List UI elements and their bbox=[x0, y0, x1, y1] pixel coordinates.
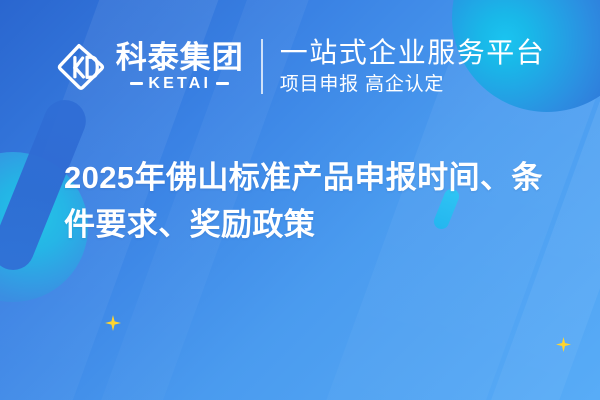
banner-header: 科泰集团 KETAI 一站式企业服务平台 项目申报 高企认定 bbox=[0, 36, 600, 98]
brand-name-cn: 科泰集团 bbox=[116, 42, 244, 74]
tagline-block: 一站式企业服务平台 项目申报 高企认定 bbox=[280, 36, 546, 98]
brand-name-en: KETAI bbox=[148, 76, 211, 92]
dash-left bbox=[130, 82, 143, 85]
page-title: 2025年佛山标准产品申报时间、条件要求、奖励政策 bbox=[64, 154, 552, 248]
vertical-divider bbox=[261, 39, 263, 94]
tagline-main: 一站式企业服务平台 bbox=[280, 36, 546, 69]
brand-logo[interactable]: 科泰集团 KETAI bbox=[55, 41, 244, 93]
brand-name-en-row: KETAI bbox=[130, 76, 229, 92]
sparkle-icon bbox=[105, 315, 121, 331]
ketai-diamond-monogram-icon bbox=[55, 41, 107, 93]
sparkle-icon bbox=[556, 337, 571, 352]
dash-right bbox=[216, 82, 229, 85]
promo-banner: 科泰集团 KETAI 一站式企业服务平台 项目申报 高企认定 2025年佛山标准… bbox=[0, 0, 600, 400]
tagline-sub: 项目申报 高企认定 bbox=[280, 72, 546, 98]
